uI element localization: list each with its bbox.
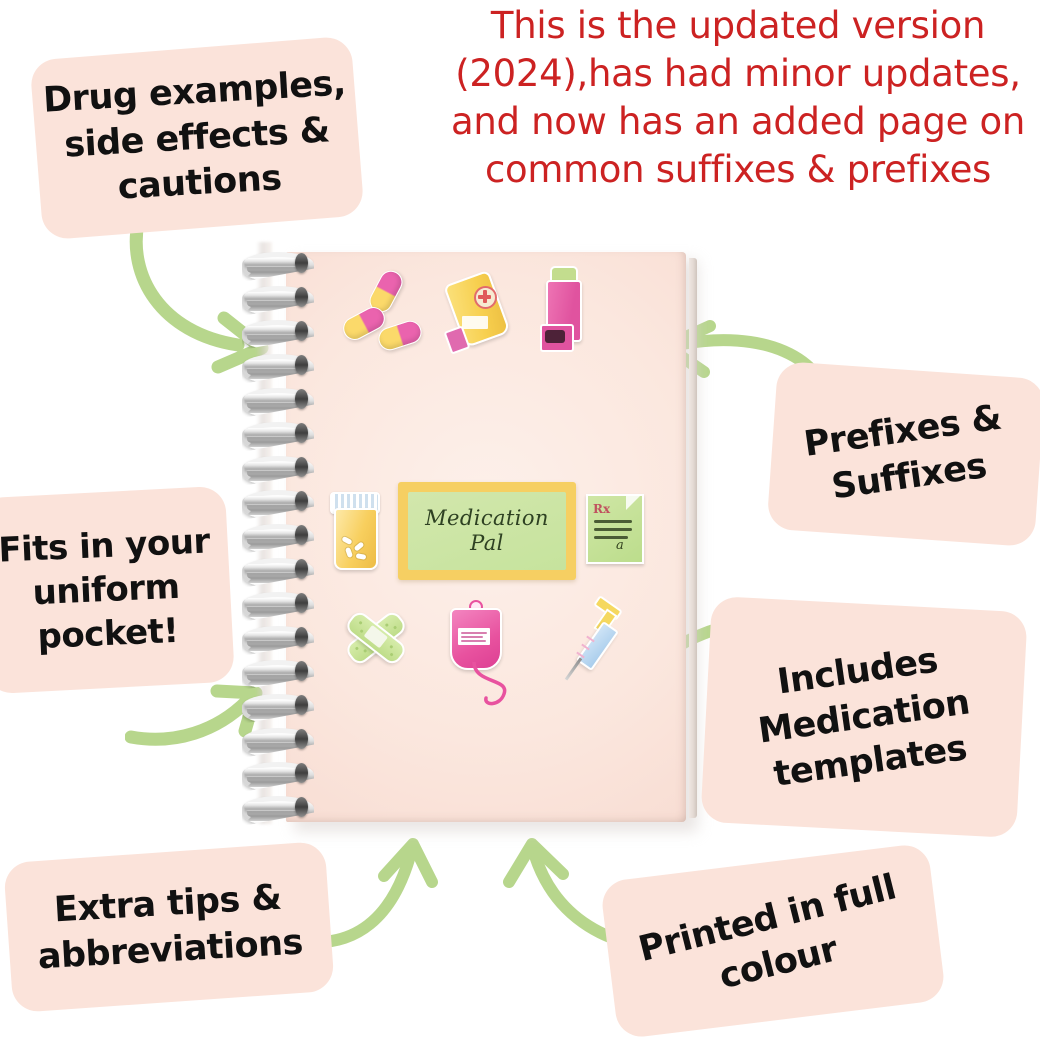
- callout-drug-examples[interactable]: Drug examples, side effects & cautions: [29, 36, 364, 241]
- spiral-coil-wire: [244, 496, 302, 505]
- cover-title-line-2: Pal: [425, 531, 549, 556]
- spiral-coil-tip: [295, 763, 308, 783]
- medication-pal-notebook: Rx 𝑎: [286, 252, 690, 826]
- prescription-paper-icon: Rx 𝑎: [586, 494, 648, 568]
- spiral-coil-tip: [295, 389, 308, 409]
- update-note: This is the updated version (2024),has h…: [440, 2, 1036, 194]
- update-note-line-3: and now has an added page on: [440, 98, 1036, 146]
- spiral-coil-tip: [295, 729, 308, 749]
- inhaler-icon: [538, 266, 608, 362]
- callout-extra-tips[interactable]: Extra tips & abbreviations: [3, 841, 335, 1013]
- spiral-coil-tip: [295, 627, 308, 647]
- spiral-coil-wire: [244, 258, 302, 267]
- spiral-coil: [240, 726, 308, 756]
- spiral-coil-tip: [295, 423, 308, 443]
- spiral-coil-wire: [244, 326, 302, 335]
- spiral-coil: [240, 420, 308, 450]
- spiral-coil: [240, 556, 308, 586]
- spiral-coil-wire: [244, 666, 302, 675]
- spiral-coil: [240, 250, 308, 280]
- spiral-coil-wire: [244, 598, 302, 607]
- callout-prefixes-suffixes[interactable]: Prefixes & Suffixes: [766, 361, 1040, 547]
- spiral-coil: [240, 284, 308, 314]
- spiral-binding: [240, 246, 310, 832]
- spiral-coil: [240, 522, 308, 552]
- spiral-coil-tip: [295, 457, 308, 477]
- spiral-coil: [240, 352, 308, 382]
- spiral-coil: [240, 318, 308, 348]
- spiral-coil-tip: [295, 593, 308, 613]
- update-note-line-4: common suffixes & prefixes: [440, 146, 1036, 194]
- spiral-coil-tip: [295, 695, 308, 715]
- spiral-coil-tip: [295, 559, 308, 579]
- spiral-coil-wire: [244, 632, 302, 641]
- spiral-coil-wire: [244, 462, 302, 471]
- spiral-coil-tip: [295, 253, 308, 273]
- spiral-coil-tip: [295, 287, 308, 307]
- spiral-coil-tip: [295, 525, 308, 545]
- spiral-coil-tip: [295, 797, 308, 817]
- update-note-line-1: This is the updated version: [440, 2, 1036, 50]
- cover-label-inner: Medication Pal: [408, 492, 566, 570]
- spiral-coil: [240, 794, 308, 824]
- spiral-coil: [240, 386, 308, 416]
- spiral-coil-wire: [244, 802, 302, 811]
- spiral-coil-wire: [244, 768, 302, 777]
- spiral-coil-wire: [244, 360, 302, 369]
- callout-printed-full-colour[interactable]: Printed in full colour: [600, 842, 947, 1039]
- bandages-icon: [340, 604, 420, 676]
- spiral-coil-tip: [295, 491, 308, 511]
- spiral-coil: [240, 624, 308, 654]
- spiral-coil: [240, 658, 308, 688]
- spiral-coil-tip: [295, 661, 308, 681]
- book-cover: Rx 𝑎: [286, 252, 686, 822]
- spiral-coil-wire: [244, 428, 302, 437]
- update-note-line-2: (2024),has had minor updates,: [440, 50, 1036, 98]
- rx-symbol: Rx: [593, 502, 610, 516]
- callout-fits-in-pocket[interactable]: Fits in your uniform pocket!: [0, 486, 235, 695]
- spiral-coil-wire: [244, 292, 302, 301]
- spiral-coil: [240, 454, 308, 484]
- cover-title-line-1: Medication: [425, 506, 549, 530]
- spiral-coil-wire: [244, 394, 302, 403]
- spiral-coil: [240, 760, 308, 790]
- spiral-coil-wire: [244, 700, 302, 709]
- spiral-coil-tip: [295, 321, 308, 341]
- book-page-edge: [689, 258, 697, 818]
- cover-title: Medication Pal: [425, 506, 549, 556]
- spiral-coil: [240, 590, 308, 620]
- spiral-coil-tip: [295, 355, 308, 375]
- spiral-coil: [240, 692, 308, 722]
- spiral-coil: [240, 488, 308, 518]
- cover-label-plate: Medication Pal: [398, 482, 576, 580]
- spiral-coil-wire: [244, 734, 302, 743]
- pill-bottle-icon: [330, 492, 390, 576]
- iv-bag-icon: [450, 600, 536, 710]
- callout-medication-templates[interactable]: Includes Medication templates: [700, 596, 1027, 838]
- product-infographic: This is the updated version (2024),has h…: [0, 0, 1040, 1042]
- ointment-tube-icon: [441, 268, 521, 360]
- syringe-icon: [554, 598, 630, 698]
- spiral-coil-wire: [244, 564, 302, 573]
- spiral-coil-wire: [244, 530, 302, 539]
